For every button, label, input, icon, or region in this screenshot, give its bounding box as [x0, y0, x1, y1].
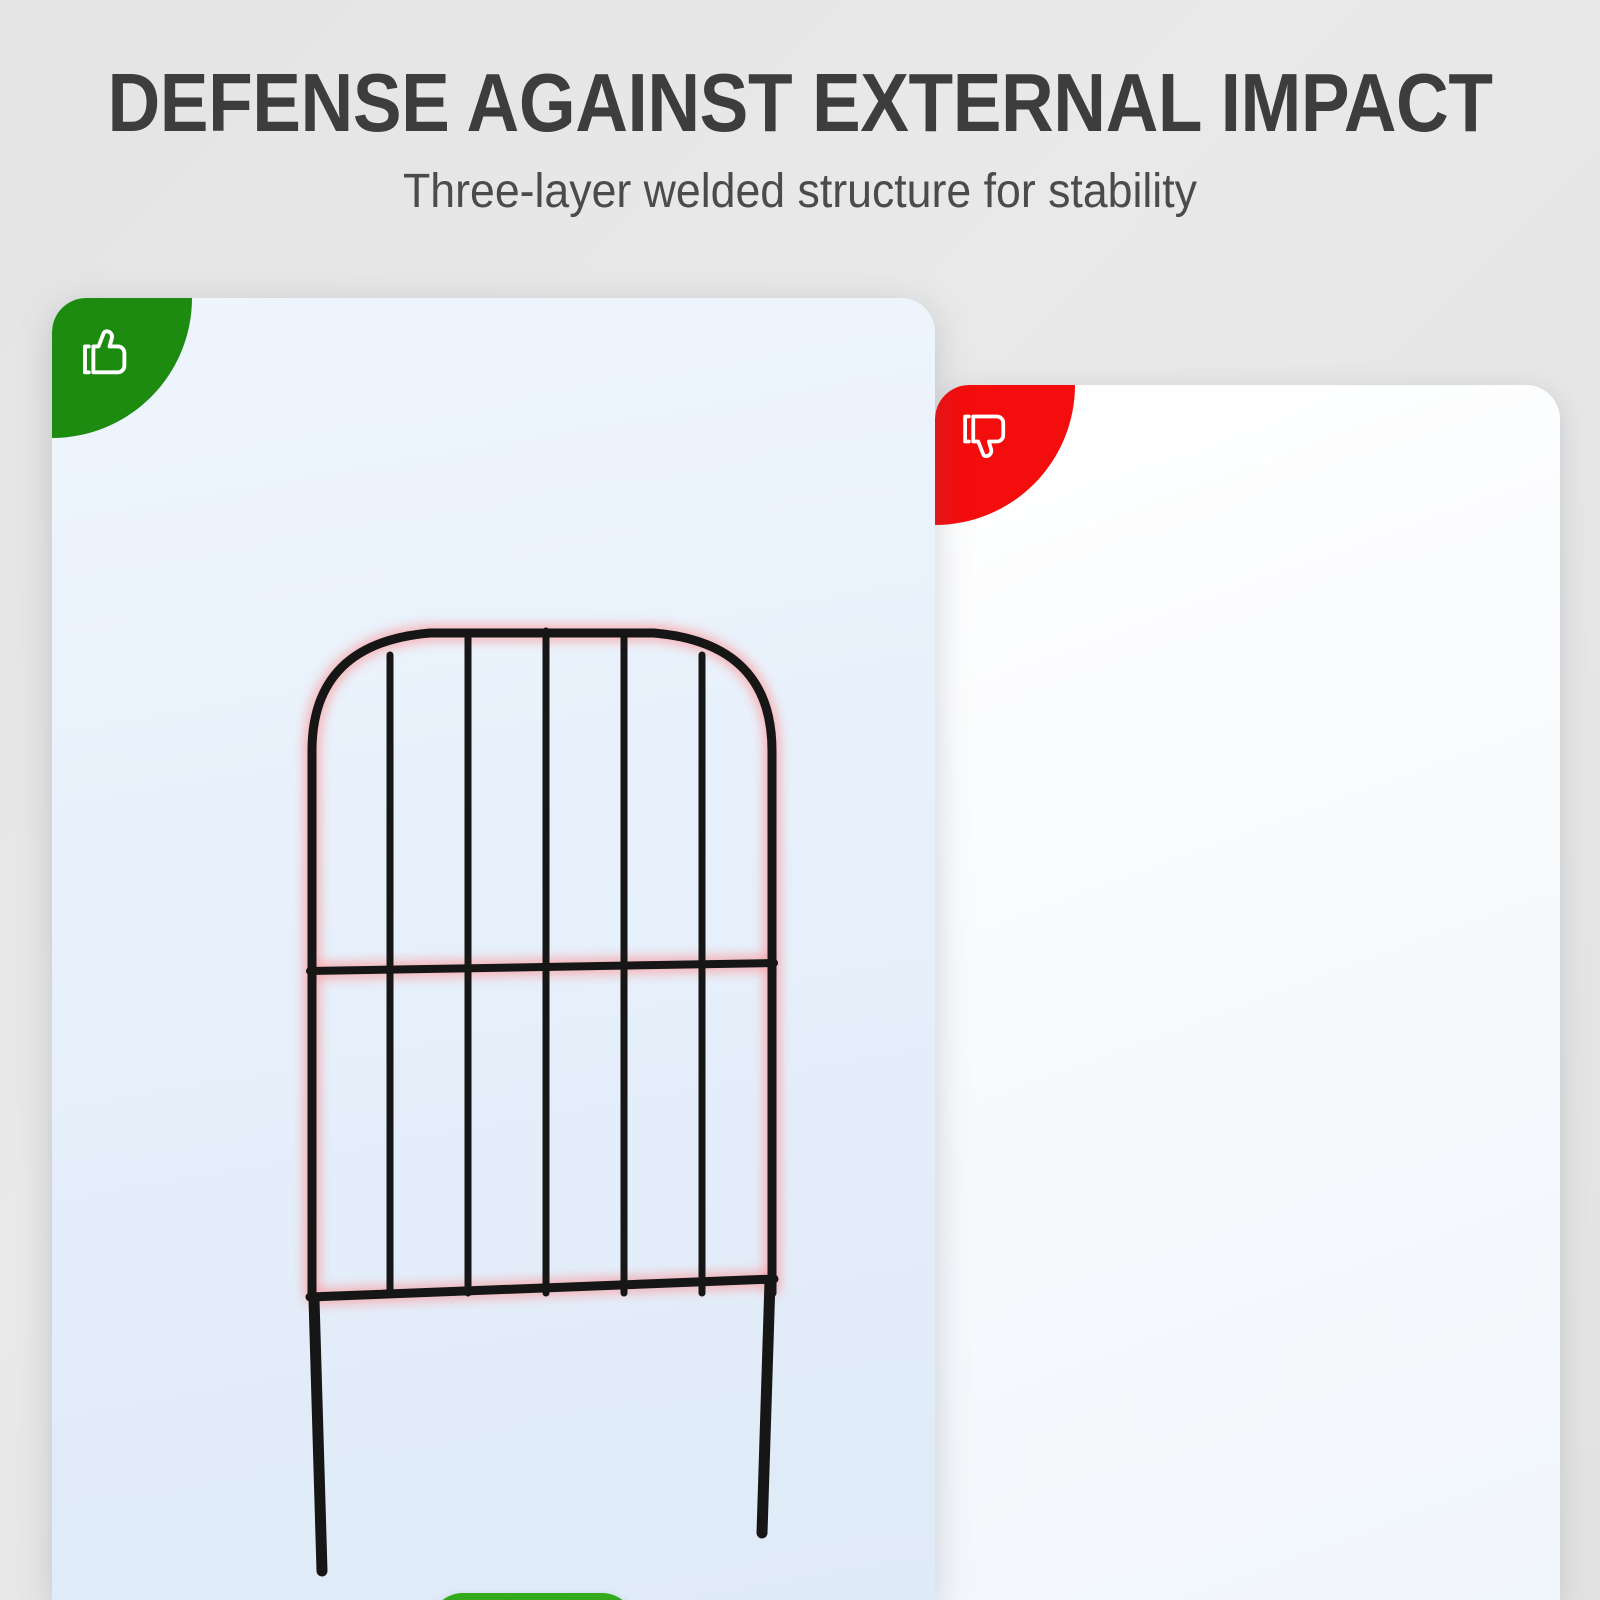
page-title: DEFENSE AGAINST EXTERNAL IMPACT — [96, 0, 1504, 143]
ours-label-pill: Ours — [430, 1593, 635, 1600]
ground-stake — [314, 1299, 322, 1571]
ours-fence-illustration — [282, 603, 802, 1583]
thumbs-up-badge — [52, 298, 192, 438]
others-card: Others No Support in the Middle — [935, 385, 1560, 1600]
ours-card: Ours Many Supporting Points — [52, 298, 935, 1600]
thumbs-up-icon — [74, 318, 136, 380]
fence-panel-ours — [282, 603, 802, 1583]
page-subtitle: Three-layer welded structure for stabili… — [56, 143, 1544, 217]
header: DEFENSE AGAINST EXTERNAL IMPACT Three-la… — [0, 0, 1600, 218]
thumbs-down-badge — [935, 385, 1075, 525]
ground-stake — [762, 1281, 770, 1533]
thumbs-down-icon — [957, 409, 1017, 469]
infographic-stage: DEFENSE AGAINST EXTERNAL IMPACT Three-la… — [0, 0, 1600, 1600]
